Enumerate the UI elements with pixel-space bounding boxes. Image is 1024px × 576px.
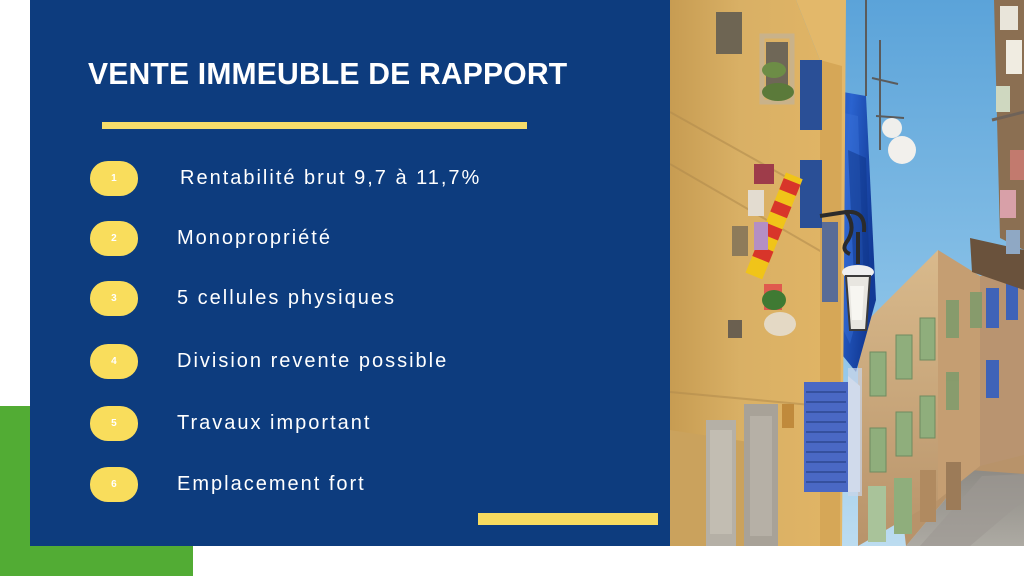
list-item: 4 Division revente possible bbox=[30, 344, 670, 380]
slide-root: VENTE IMMEUBLE DE RAPPORT 1 Rentabilité … bbox=[0, 0, 1024, 576]
list-item-number-badge: 2 bbox=[90, 221, 138, 256]
list-item-number-badge: 6 bbox=[90, 467, 138, 502]
list-item-number-badge: 1 bbox=[90, 161, 138, 196]
list-item: 2 Monopropriété bbox=[30, 221, 670, 257]
list-item-number-badge: 5 bbox=[90, 406, 138, 441]
list-item-number-badge: 3 bbox=[90, 281, 138, 316]
list-item: 5 Travaux important bbox=[30, 406, 670, 442]
list-item-label: Emplacement fort bbox=[177, 467, 366, 502]
list-item-number-badge: 4 bbox=[90, 344, 138, 379]
street-photo bbox=[670, 0, 1024, 546]
list-item-label: Division revente possible bbox=[177, 344, 448, 379]
list-item-label: Rentabilité brut 9,7 à 11,7% bbox=[180, 161, 481, 196]
page-title: VENTE IMMEUBLE DE RAPPORT bbox=[88, 57, 567, 91]
list-item: 3 5 cellules physiques bbox=[30, 281, 670, 317]
street-photo-illustration bbox=[670, 0, 1024, 546]
bottom-accent-bar bbox=[478, 513, 658, 525]
content-panel: VENTE IMMEUBLE DE RAPPORT 1 Rentabilité … bbox=[30, 0, 670, 546]
list-item-label: Monopropriété bbox=[177, 221, 332, 256]
list-item-label: 5 cellules physiques bbox=[177, 281, 396, 316]
title-underline-bar bbox=[102, 122, 527, 129]
list-item: 1 Rentabilité brut 9,7 à 11,7% bbox=[30, 161, 670, 197]
list-item: 6 Emplacement fort bbox=[30, 467, 670, 503]
list-item-label: Travaux important bbox=[177, 406, 371, 441]
